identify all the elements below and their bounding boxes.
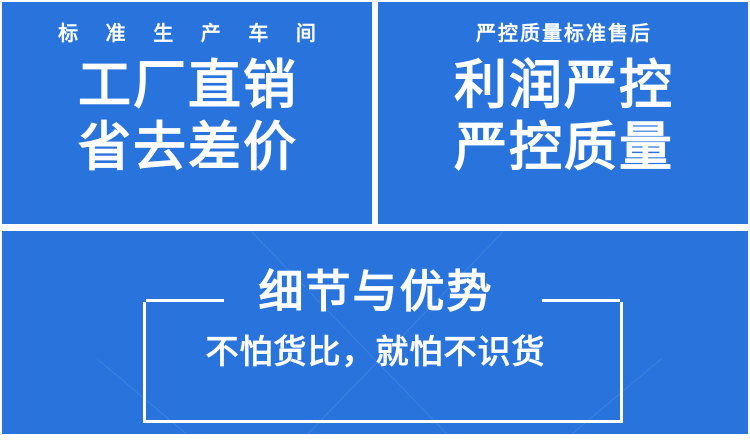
right-panel-headline-line1: 利润严控	[452, 58, 674, 114]
right-panel-headline-line2: 严控质量	[452, 120, 674, 176]
left-panel-headline-line2: 省去差价	[76, 120, 298, 176]
promo-banner: 标 准 生 产 车 间 工厂直销 省去差价 严控质量标准售后 利润严控 严控质量…	[0, 0, 750, 440]
panel-content-left: 标 准 生 产 车 间 工厂直销 省去差价	[2, 2, 372, 224]
panel-factory-direct: 标 准 生 产 车 间 工厂直销 省去差价	[2, 2, 372, 224]
bottom-panel-subtitle: 不怕货比，就怕不识货	[2, 335, 748, 368]
panel-quality-control: 严控质量标准售后 利润严控 严控质量	[378, 2, 748, 224]
bottom-panel-title: 细节与优势	[2, 269, 748, 314]
panel-details-advantages: 细节与优势 不怕货比，就怕不识货	[2, 231, 748, 434]
left-panel-headline-line1: 工厂直销	[76, 58, 298, 114]
top-panel-row: 标 准 生 产 车 间 工厂直销 省去差价 严控质量标准售后 利润严控 严控质量	[2, 2, 748, 224]
left-panel-eyebrow: 标 准 生 产 车 间	[47, 24, 327, 44]
right-panel-eyebrow: 严控质量标准售后	[474, 24, 652, 44]
panel-content-right: 严控质量标准售后 利润严控 严控质量	[378, 2, 748, 224]
